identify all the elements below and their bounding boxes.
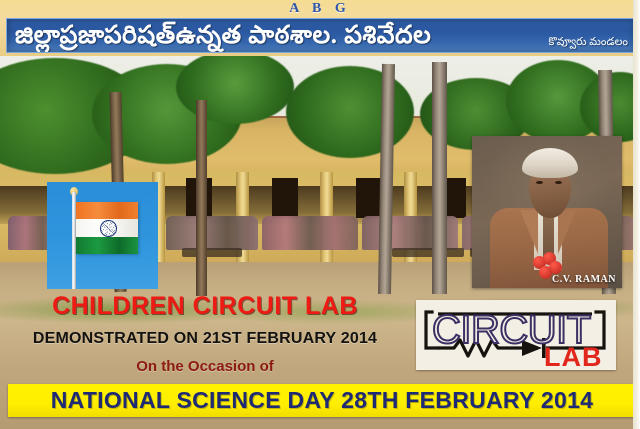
school-signboard: జిల్లాప్రజాపరిషత్ఉన్నత పాఠశాల. పశివేదల క… bbox=[6, 18, 636, 53]
flag-band-green bbox=[76, 237, 138, 254]
bench bbox=[392, 248, 464, 257]
indian-flag-photo bbox=[47, 182, 158, 289]
tree-canopy bbox=[176, 50, 294, 124]
right-border-edge bbox=[633, 0, 640, 429]
portrait-caption: C.V. RAMAN bbox=[552, 274, 616, 285]
classroom-doorway bbox=[272, 178, 298, 218]
occasion-line: On the Occasion of bbox=[0, 358, 410, 375]
portrait-eye bbox=[536, 181, 543, 184]
tree-canopy bbox=[286, 66, 414, 158]
palm-tree-trunk bbox=[432, 62, 447, 294]
cv-raman-portrait: C.V. RAMAN bbox=[472, 136, 622, 288]
national-science-day-banner: NATIONAL SCIENCE DAY 28TH FEBRUARY 2014 bbox=[8, 384, 636, 417]
tricolour-flag-icon bbox=[76, 202, 138, 254]
seated-students bbox=[262, 216, 358, 250]
portrait-lapel-left bbox=[520, 210, 538, 254]
portrait-lapel-right bbox=[558, 210, 576, 254]
bench bbox=[182, 248, 242, 257]
classroom-doorway bbox=[356, 178, 382, 218]
tree-trunk bbox=[196, 100, 207, 296]
school-mandal-telugu: కొవ్వూరు మండలం bbox=[549, 36, 628, 51]
school-name-telugu: జిల్లాప్రజాపరిషత్ఉన్నత పాఠశాల. పశివేదల bbox=[15, 20, 431, 51]
portrait-eye bbox=[555, 181, 562, 184]
banner-text: NATIONAL SCIENCE DAY 28TH FEBRUARY 2014 bbox=[51, 387, 594, 414]
circuitlab-logo-graphic: CIRCUIT LAB bbox=[416, 300, 616, 370]
circuitlab-logo: CIRCUIT LAB bbox=[416, 300, 616, 370]
headline-children-circuit-lab: CHILDREN CIRCUIT LAB bbox=[0, 292, 410, 321]
demonstrated-date-line: DEMONSTRATED ON 21ST FEBRUARY 2014 bbox=[0, 330, 410, 348]
seated-students bbox=[166, 216, 258, 250]
poster-image: A B G జిల్లాప్రజాపరిషత్ఉన్నత పాఠశాల. పశి… bbox=[0, 0, 640, 429]
abg-label: A B G bbox=[0, 1, 640, 17]
ashoka-chakra-icon bbox=[100, 220, 117, 237]
logo-word-lab: LAB bbox=[544, 342, 603, 370]
flag-band-saffron bbox=[76, 202, 138, 219]
